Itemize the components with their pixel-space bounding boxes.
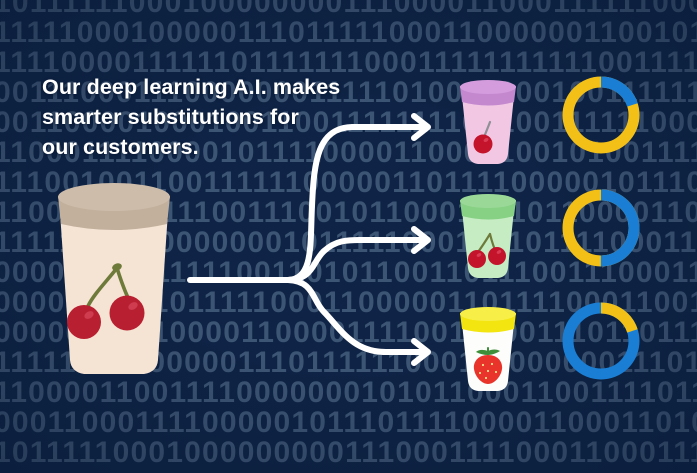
green-cherry-cup[interactable] <box>452 192 524 284</box>
pink-cherry-cup[interactable] <box>452 78 524 170</box>
match-score-donut-1 <box>558 72 644 158</box>
match-score-donut-2 <box>558 185 644 271</box>
white-strawberry-cup[interactable] <box>452 305 524 397</box>
match-score-donut-3 <box>558 298 644 384</box>
infographic-canvas: 1011111100010000000011100001100011111100… <box>0 0 697 473</box>
